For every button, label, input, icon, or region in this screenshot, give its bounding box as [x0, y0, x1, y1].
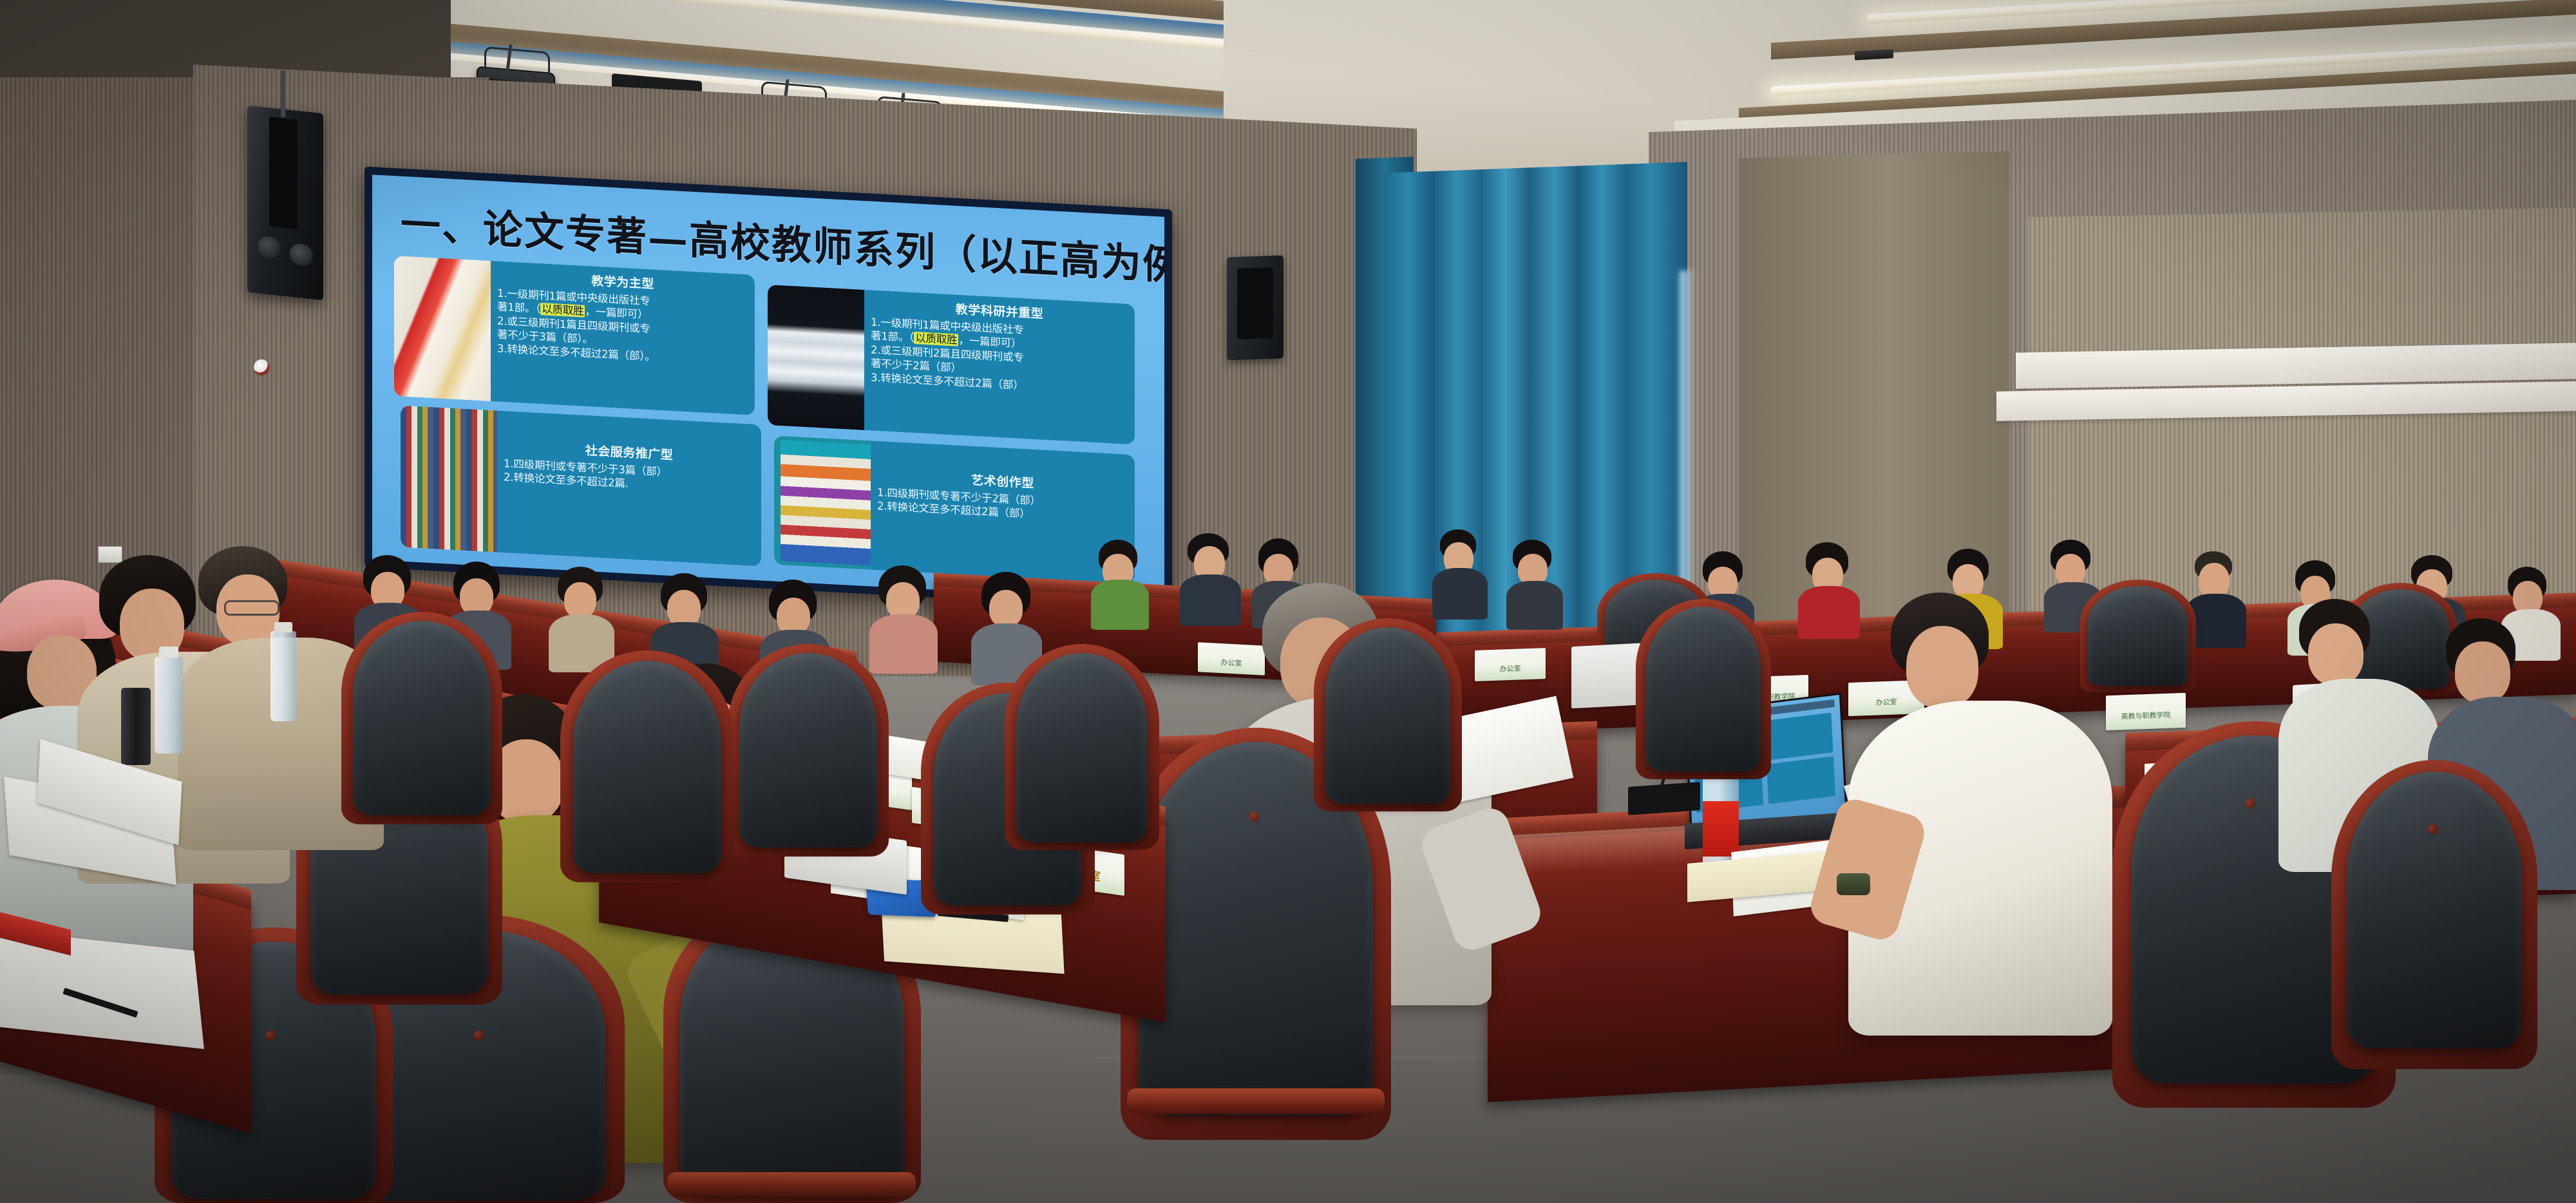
torso — [1091, 580, 1149, 630]
card-image-bookshelf — [401, 406, 497, 553]
card-highlight: 以质取胜 — [914, 332, 958, 346]
presentation-screen[interactable]: 一、论文专著—高校教师系列（以正高为例） 教学为主型 1.一级期刊1篇或中央级出… — [365, 167, 1172, 611]
chair-backrest — [2347, 772, 2522, 1048]
chair-stud — [2428, 824, 2438, 835]
placard-label: 办公室 — [1848, 696, 1924, 708]
placard-label: 办公室 — [1475, 662, 1546, 675]
meeting-room-photo: 一、论文专著—高校教师系列（以正高为例） 教学为主型 1.一级期刊1篇或中央级出… — [0, 0, 2576, 1203]
card-highlight: 以质取胜 — [540, 303, 585, 318]
chair-backrest — [573, 661, 721, 873]
thermos-tumbler — [121, 688, 151, 765]
wall-speaker-left — [247, 106, 323, 300]
chair-mid-4[interactable] — [728, 644, 889, 857]
card-image-open-red-book — [394, 256, 491, 401]
mini-slide-card — [1766, 756, 1835, 804]
chair-backrest — [1016, 653, 1148, 842]
chair-armrest — [1127, 1088, 1385, 1114]
chair-mid-5[interactable] — [1314, 618, 1462, 811]
bottle-cap — [274, 622, 292, 632]
card-body: 教学科研并重型 1.一级期刊1篇或中央级出版社专 著1部。（以质取胜，一篇即可）… — [864, 290, 1135, 444]
wall-speaker-right — [1227, 255, 1283, 360]
torso — [1180, 574, 1241, 626]
water-bottle — [270, 631, 296, 721]
chair-mid-3[interactable] — [1005, 644, 1159, 850]
card-body: 社会服务推广型 1.四级期刊或专著不少于3篇（部） 2.转换论文至多不超过2篇. — [497, 411, 761, 567]
speaker-left-hanger — [281, 71, 285, 117]
wall-sign — [98, 546, 122, 563]
chair-backrest — [1325, 627, 1450, 804]
chair-backrest — [2088, 586, 2188, 686]
light-yoke — [484, 46, 550, 76]
chair-stud — [473, 1030, 484, 1041]
wall-emergency-button-icon[interactable] — [254, 359, 269, 375]
slide-card-social-service: 社会服务推广型 1.四级期刊或专著不少于3篇（部） 2.转换论文至多不超过2篇. — [401, 406, 761, 567]
gooseneck-microphone-base[interactable] — [1628, 782, 1700, 815]
chair-stud — [1249, 811, 1260, 822]
eyeglasses-icon — [224, 600, 279, 616]
slide-card-grid: 教学为主型 1.一级期刊1篇或中央级出版社专 著1部。（以质取胜，一篇即可） 2… — [394, 256, 1135, 586]
slide-card-teaching-research-equal: 教学科研并重型 1.一级期刊1篇或中央级出版社专 著1部。（以质取胜，一篇即可）… — [768, 285, 1135, 444]
chair-backrest — [739, 653, 877, 848]
slide-card-art-creation: 艺术创作型 1.四级期刊或专著不少于2篇（部） 2.转换论文至多不超过2篇（部） — [774, 435, 1135, 583]
torso — [1798, 586, 1860, 639]
chair-mid-6[interactable] — [1636, 599, 1771, 779]
card-body: 艺术创作型 1.四级期刊或专著不少于2篇（部） 2.转换论文至多不超过2篇（部） — [871, 440, 1135, 583]
bottle-cap — [159, 647, 178, 658]
card-body: 教学为主型 1.一级期刊1篇或中央级出版社专 著1部。（以质取胜，一篇即可） 2… — [491, 261, 755, 415]
chair-back-r2[interactable] — [2080, 580, 2196, 692]
card-image-stacked-white-books — [768, 285, 864, 430]
chair-armrest — [667, 1172, 916, 1197]
screen-display: 一、论文专著—高校教师系列（以正高为例） 教学为主型 1.一级期刊1篇或中央级出… — [372, 175, 1164, 602]
placard-label: 办公室 — [1198, 656, 1265, 669]
placard-label: 高教与职教学院 — [2106, 709, 2186, 722]
torso — [1432, 568, 1488, 620]
chair-stud — [2245, 799, 2255, 809]
chair-right-front-1[interactable] — [2331, 760, 2537, 1069]
chair-front-left-2[interactable] — [560, 650, 734, 882]
head — [564, 582, 596, 618]
water-bottle — [155, 657, 183, 753]
bottle-label — [1703, 801, 1739, 857]
torso — [1506, 581, 1563, 630]
mini-slide-card — [1764, 713, 1833, 761]
name-placard: 办公室 — [1198, 642, 1265, 675]
head — [2308, 623, 2363, 685]
wristwatch — [1837, 873, 1870, 895]
head — [1906, 626, 1978, 708]
head — [989, 590, 1023, 627]
chair-backrest — [1646, 607, 1761, 772]
head — [2455, 641, 2510, 703]
name-placard: 办公室 — [1475, 648, 1546, 681]
chair-front-left-1[interactable] — [341, 612, 502, 824]
slide-card-teaching-focused: 教学为主型 1.一级期刊1篇或中央级出版社专 著1部。（以质取胜，一篇即可） 2… — [394, 256, 755, 415]
card-image-colorful-book-stack — [781, 440, 871, 565]
chair-backrest — [353, 621, 491, 815]
chair-stud — [265, 1030, 276, 1041]
